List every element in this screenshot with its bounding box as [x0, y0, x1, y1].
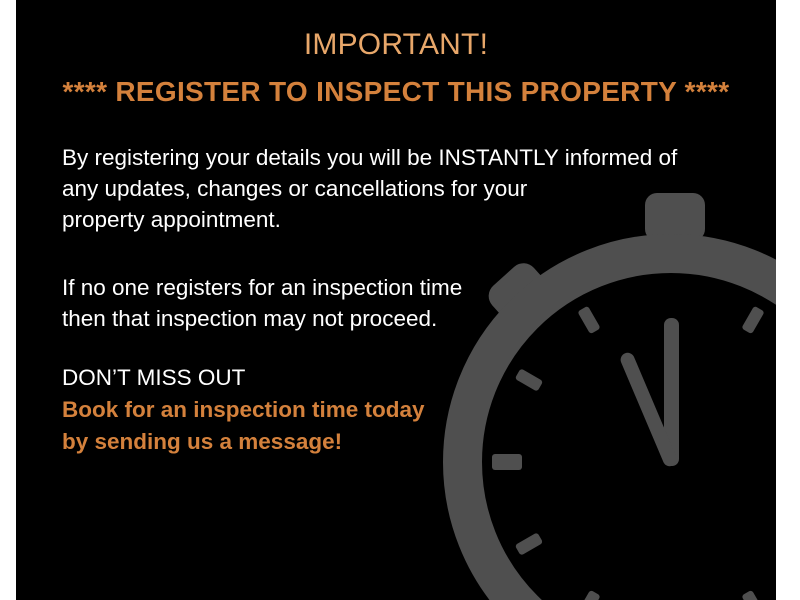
closing-book-inspection: Book for an inspection time today	[62, 394, 425, 426]
headline-important: IMPORTANT!	[16, 28, 776, 62]
closing-call-to-action: DON’T MISS OUT Book for an inspection ti…	[62, 362, 425, 458]
poster-canvas: IMPORTANT! **** REGISTER TO INSPECT THIS…	[0, 0, 800, 600]
poster-text-layer: IMPORTANT! **** REGISTER TO INSPECT THIS…	[16, 0, 776, 600]
headline-register-to-inspect: **** REGISTER TO INSPECT THIS PROPERTY *…	[16, 76, 776, 108]
black-background-panel: IMPORTANT! **** REGISTER TO INSPECT THIS…	[16, 0, 776, 600]
body-paragraph-no-registration: If no one registers for an inspection ti…	[62, 272, 462, 334]
body-paragraph-registering: By registering your details you will be …	[62, 142, 677, 235]
closing-dont-miss-out: DON’T MISS OUT	[62, 362, 425, 394]
closing-send-message: by sending us a message!	[62, 426, 425, 458]
